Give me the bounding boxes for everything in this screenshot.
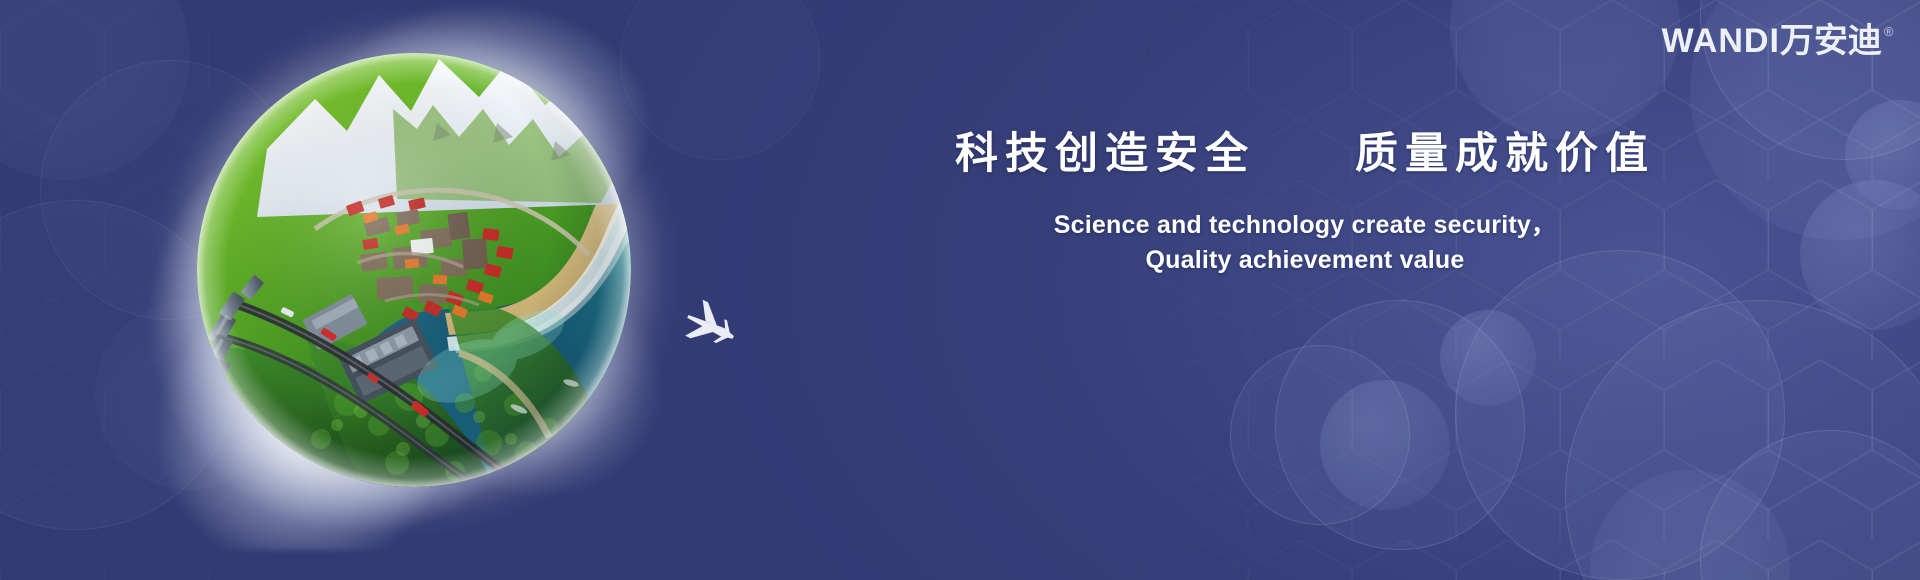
subtitle-line-2: Quality achievement value [945, 243, 1665, 279]
globe-image [175, 35, 655, 515]
subtitle-english: Science and technology create security， … [945, 208, 1665, 279]
banner-copy: 科技创造安全 质量成就价值 Science and technology cre… [945, 128, 1665, 279]
airplane-icon [678, 298, 744, 354]
logo-text-english: WANDI [1662, 24, 1780, 58]
headline-chinese: 科技创造安全 质量成就价值 [945, 128, 1665, 182]
subtitle-line-1: Science and technology create security， [945, 208, 1665, 244]
registered-trademark-icon: ® [1884, 25, 1894, 38]
hero-banner: WANDI 万安迪 ® 科技创造安全 质量成就价值 Science and te… [0, 0, 1920, 580]
tiny-planet [197, 53, 631, 487]
brand-logo[interactable]: WANDI 万安迪 ® [1662, 24, 1894, 58]
logo-text-chinese: 万安迪 [1780, 24, 1882, 58]
